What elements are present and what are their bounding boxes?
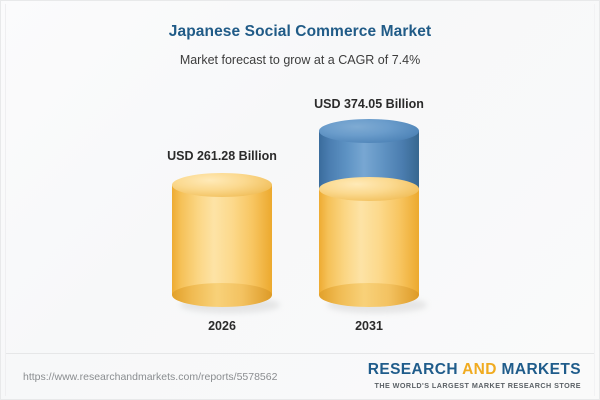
bar-2026[interactable] xyxy=(172,173,272,307)
bar-2031-base-body xyxy=(319,189,419,295)
bar-2031-top-cap xyxy=(319,119,419,143)
logo-tagline: THE WORLD'S LARGEST MARKET RESEARCH STOR… xyxy=(368,381,581,390)
category-label-2026: 2026 xyxy=(162,319,282,333)
chart-card: Japanese Social Commerce Market Market f… xyxy=(0,0,600,400)
research-and-markets-logo[interactable]: RESEARCH AND MARKETS THE WORLD'S LARGEST… xyxy=(368,361,581,390)
bar-2031-bottom-cap xyxy=(319,283,419,307)
logo-text-markets: MARKETS xyxy=(497,361,581,378)
footer-divider xyxy=(6,353,594,354)
bar-2031[interactable] xyxy=(319,119,419,307)
bar-2026-bottom-cap xyxy=(172,283,272,307)
bar-2031-base-top-cap xyxy=(319,177,419,201)
value-label-2031: USD 374.05 Billion xyxy=(289,97,449,111)
bar-2026-top-cap xyxy=(172,173,272,197)
bar-2026-base-body xyxy=(172,185,272,295)
logo-wordmark: RESEARCH AND MARKETS xyxy=(368,361,581,379)
logo-text-and: AND xyxy=(462,361,497,378)
chart-plot-area: USD 261.28 Billion USD 374.05 Billion 20… xyxy=(1,1,599,399)
logo-text-research: RESEARCH xyxy=(368,361,462,378)
category-label-2031: 2031 xyxy=(309,319,429,333)
source-url[interactable]: https://www.researchandmarkets.com/repor… xyxy=(23,371,277,383)
value-label-2026: USD 261.28 Billion xyxy=(142,149,302,163)
